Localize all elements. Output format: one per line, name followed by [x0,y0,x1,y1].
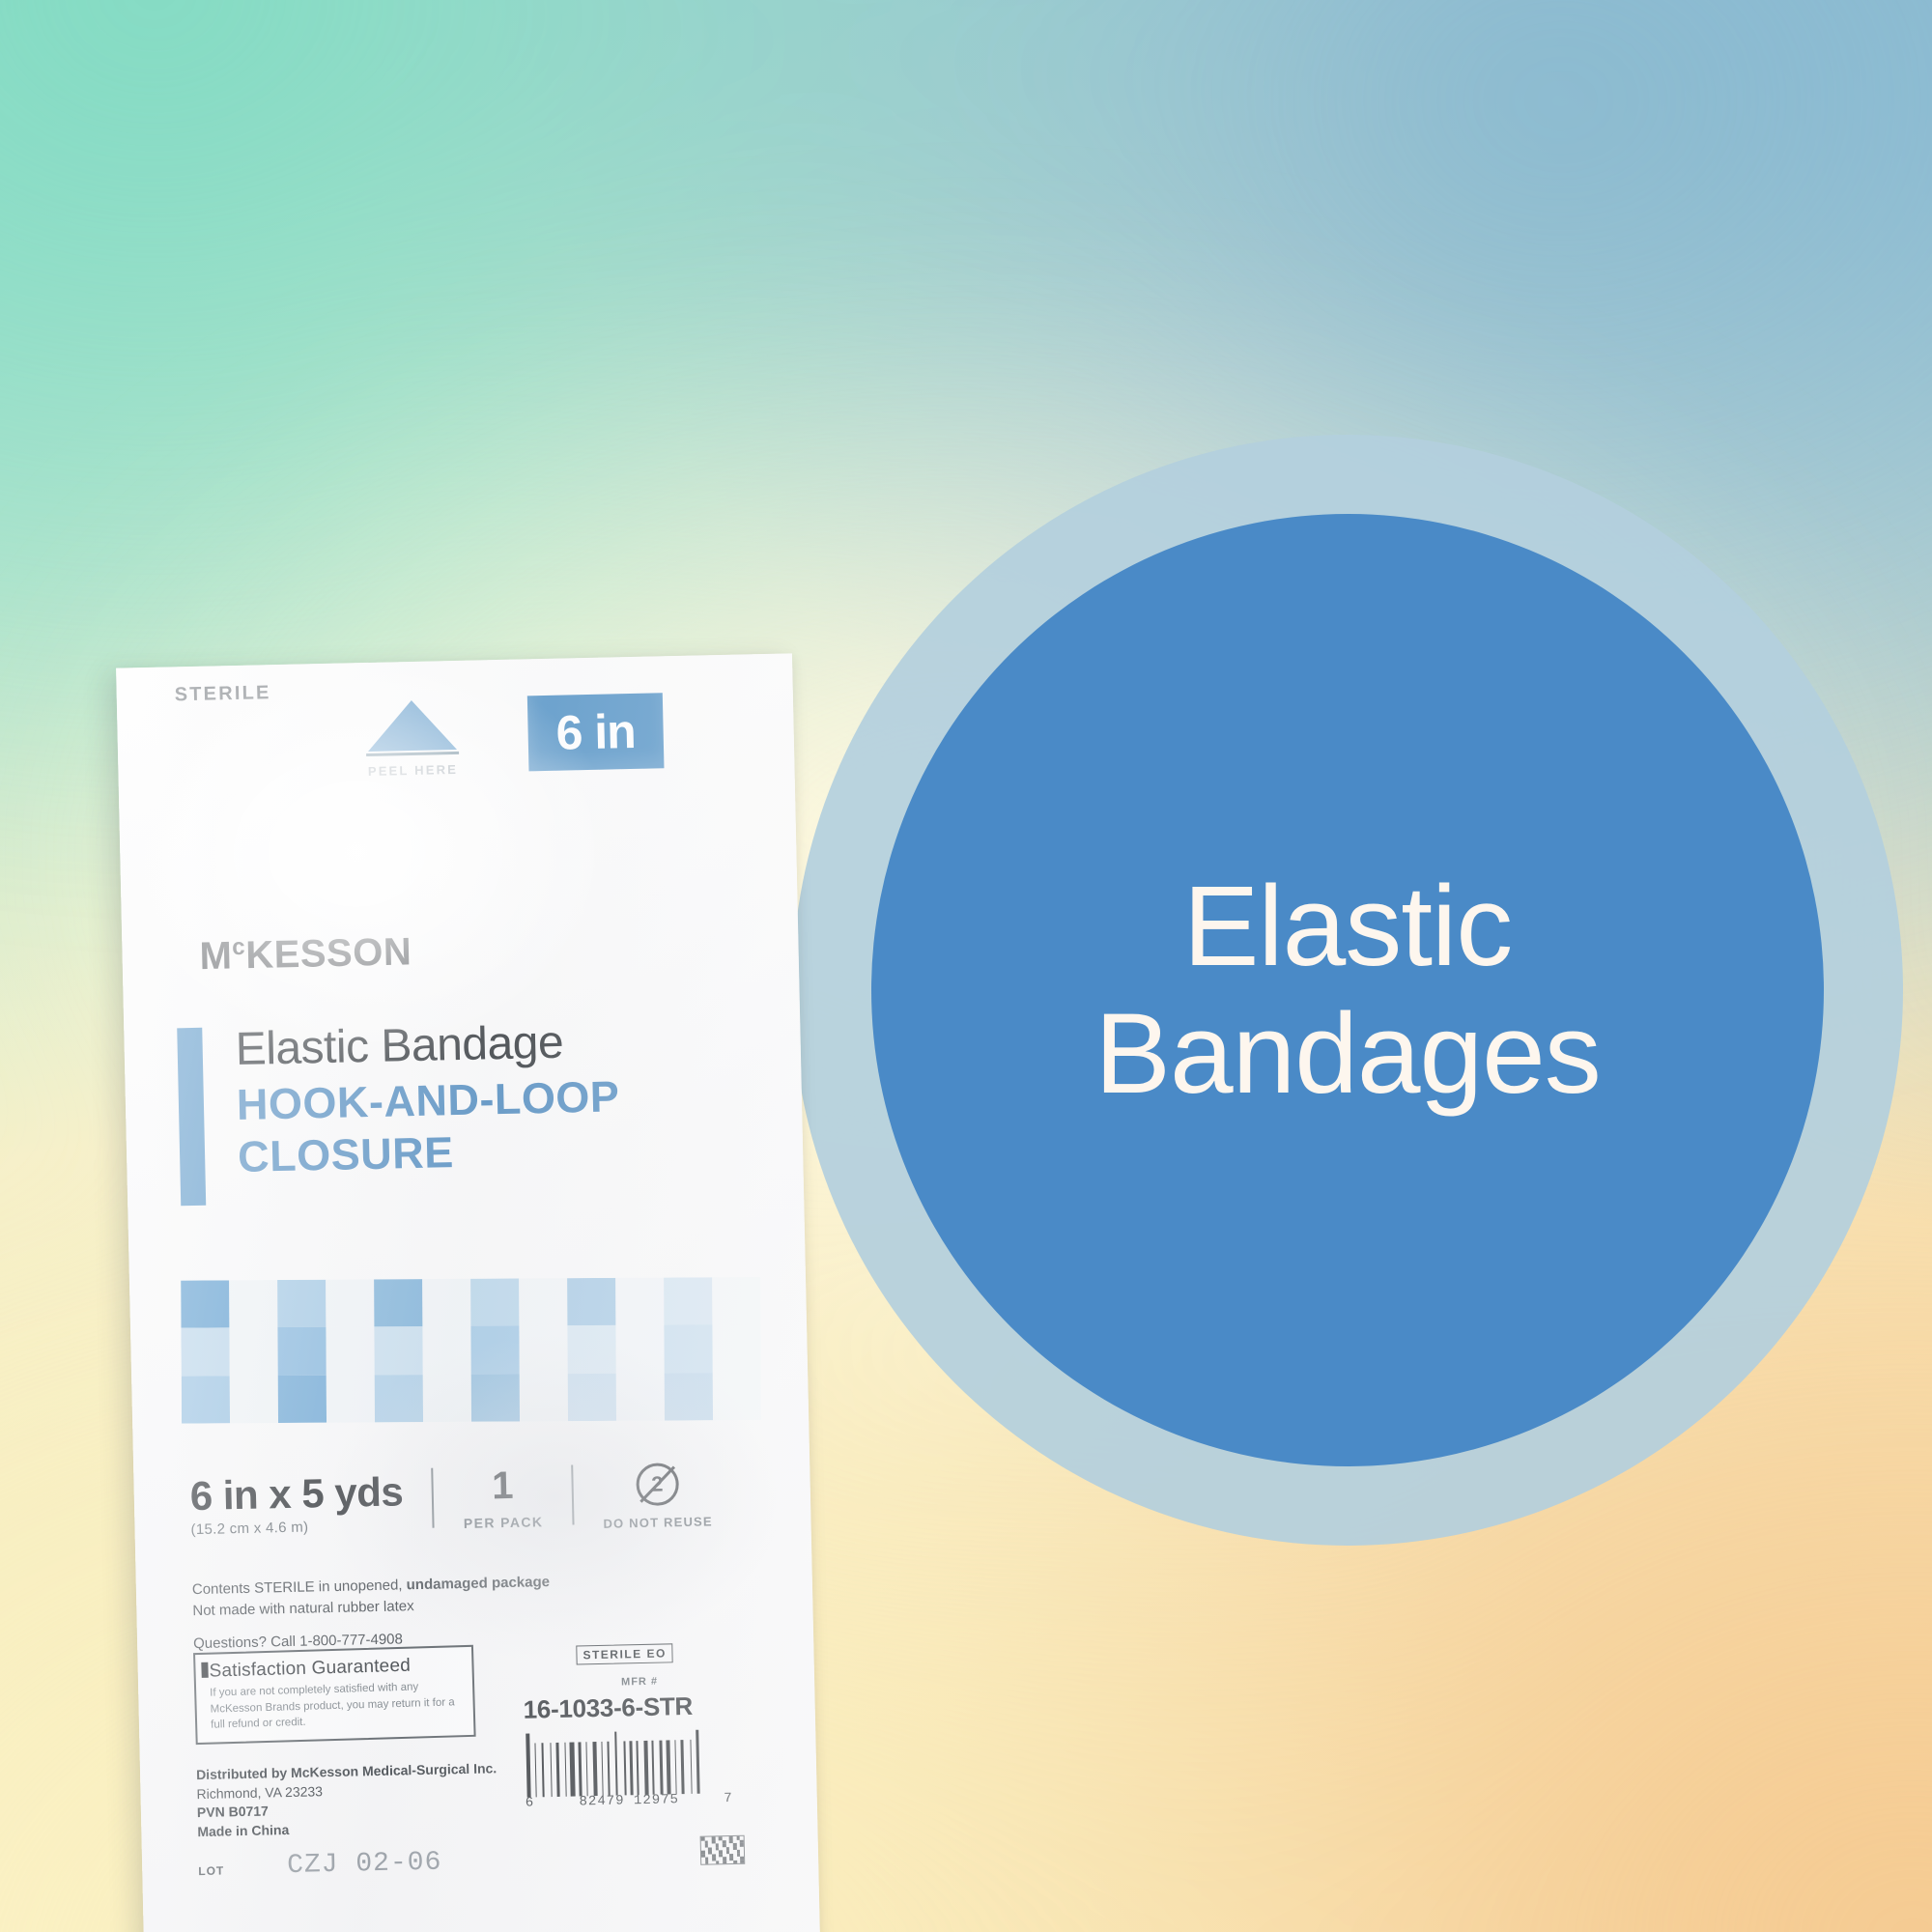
brand-logo: McKESSON [199,930,412,979]
product-title-block: Elastic Bandage HOOK-AND-LOOP CLOSURE [177,1011,779,1183]
spec-quantity-label: PER PACK [464,1514,544,1531]
bandage-swatch-image [181,1277,761,1424]
spec-size: 6 in x 5 yds (15.2 cm x 4.6 m) [189,1468,404,1538]
product-specs-row: 6 in x 5 yds (15.2 cm x 4.6 m) 1 PER PAC… [189,1461,789,1541]
sterile-eo-badge: STERILE EO [576,1643,673,1664]
lot-value: CZJ 02-06 [287,1848,442,1881]
barcode-digits: 6 82479 12975 7 [526,1791,733,1811]
spec-size-value: 6 in x 5 yds [189,1468,403,1520]
fineprint-line1a: Contents STERILE in unopened, [192,1577,407,1598]
satisfaction-guarantee-box: Satisfaction Guaranteed If you are not c… [193,1645,476,1745]
title-text-group: Elastic Bandage HOOK-AND-LOOP CLOSURE [235,1011,779,1182]
fineprint-line1b: undamaged package [406,1574,550,1593]
peel-underline [366,752,459,756]
product-feature-2: CLOSURE [238,1121,780,1182]
brand-initial: M [199,934,233,978]
barcode-digit-right: 7 [724,1791,733,1806]
lot-label: LOT [198,1863,224,1878]
distributor-line2: Richmond, VA 23233 [196,1783,323,1802]
spec-do-not-reuse: DO NOT REUSE [602,1462,713,1530]
size-badge: 6 in [527,693,665,771]
fineprint-sterility: Contents STERILE in unopened, undamaged … [192,1571,618,1622]
datamatrix-code [700,1835,746,1865]
mfr-number: 16-1033-6-STR [523,1691,693,1725]
title-accent-bar [177,1028,206,1207]
category-badge: Elastic Bandages [792,435,1903,1546]
peel-here-label: PEEL HERE [345,761,480,779]
brand-superscript: c [232,934,245,960]
do-not-reuse-label: DO NOT REUSE [603,1514,713,1530]
spec-divider-1 [432,1468,435,1528]
barcode-digit-mid: 82479 12975 [579,1792,679,1809]
guarantee-body: If you are not completely satisfied with… [210,1678,465,1734]
category-title: Elastic Bandages [1094,863,1600,1118]
distributor-line1: Distributed by McKesson Medical-Surgical… [196,1760,497,1782]
product-name: Elastic Bandage [235,1011,777,1076]
barcode [526,1729,729,1798]
package-fineprint: Contents STERILE in unopened, undamaged … [192,1571,619,1652]
spec-divider-2 [571,1465,574,1525]
peel-here-marker: PEEL HERE [344,698,481,779]
product-package: PEEL HERE 6 in McKESSON Elastic Bandage … [116,653,821,1932]
spec-size-metric: (15.2 cm x 4.6 m) [190,1520,308,1539]
product-feature-1: HOOK-AND-LOOP [236,1068,778,1130]
do-not-reuse-icon [636,1463,679,1506]
distributor-line3: PVN B0717 [197,1804,269,1821]
brand-rest: KESSON [245,930,412,977]
fineprint-line2: Not made with natural rubber latex [192,1598,414,1619]
package-top-row: PEEL HERE 6 in [117,692,795,822]
barcode-digit-left: 6 [526,1795,535,1810]
triangle-up-icon [367,699,457,752]
badge-inner-circle: Elastic Bandages [871,514,1824,1466]
distributor-line4: Made in China [197,1822,289,1839]
spec-quantity: 1 PER PACK [463,1465,544,1531]
mfr-label: MFR # [621,1676,658,1689]
distributor-info: Distributed by McKesson Medical-Surgical… [196,1759,498,1841]
spec-quantity-value: 1 [492,1466,514,1505]
